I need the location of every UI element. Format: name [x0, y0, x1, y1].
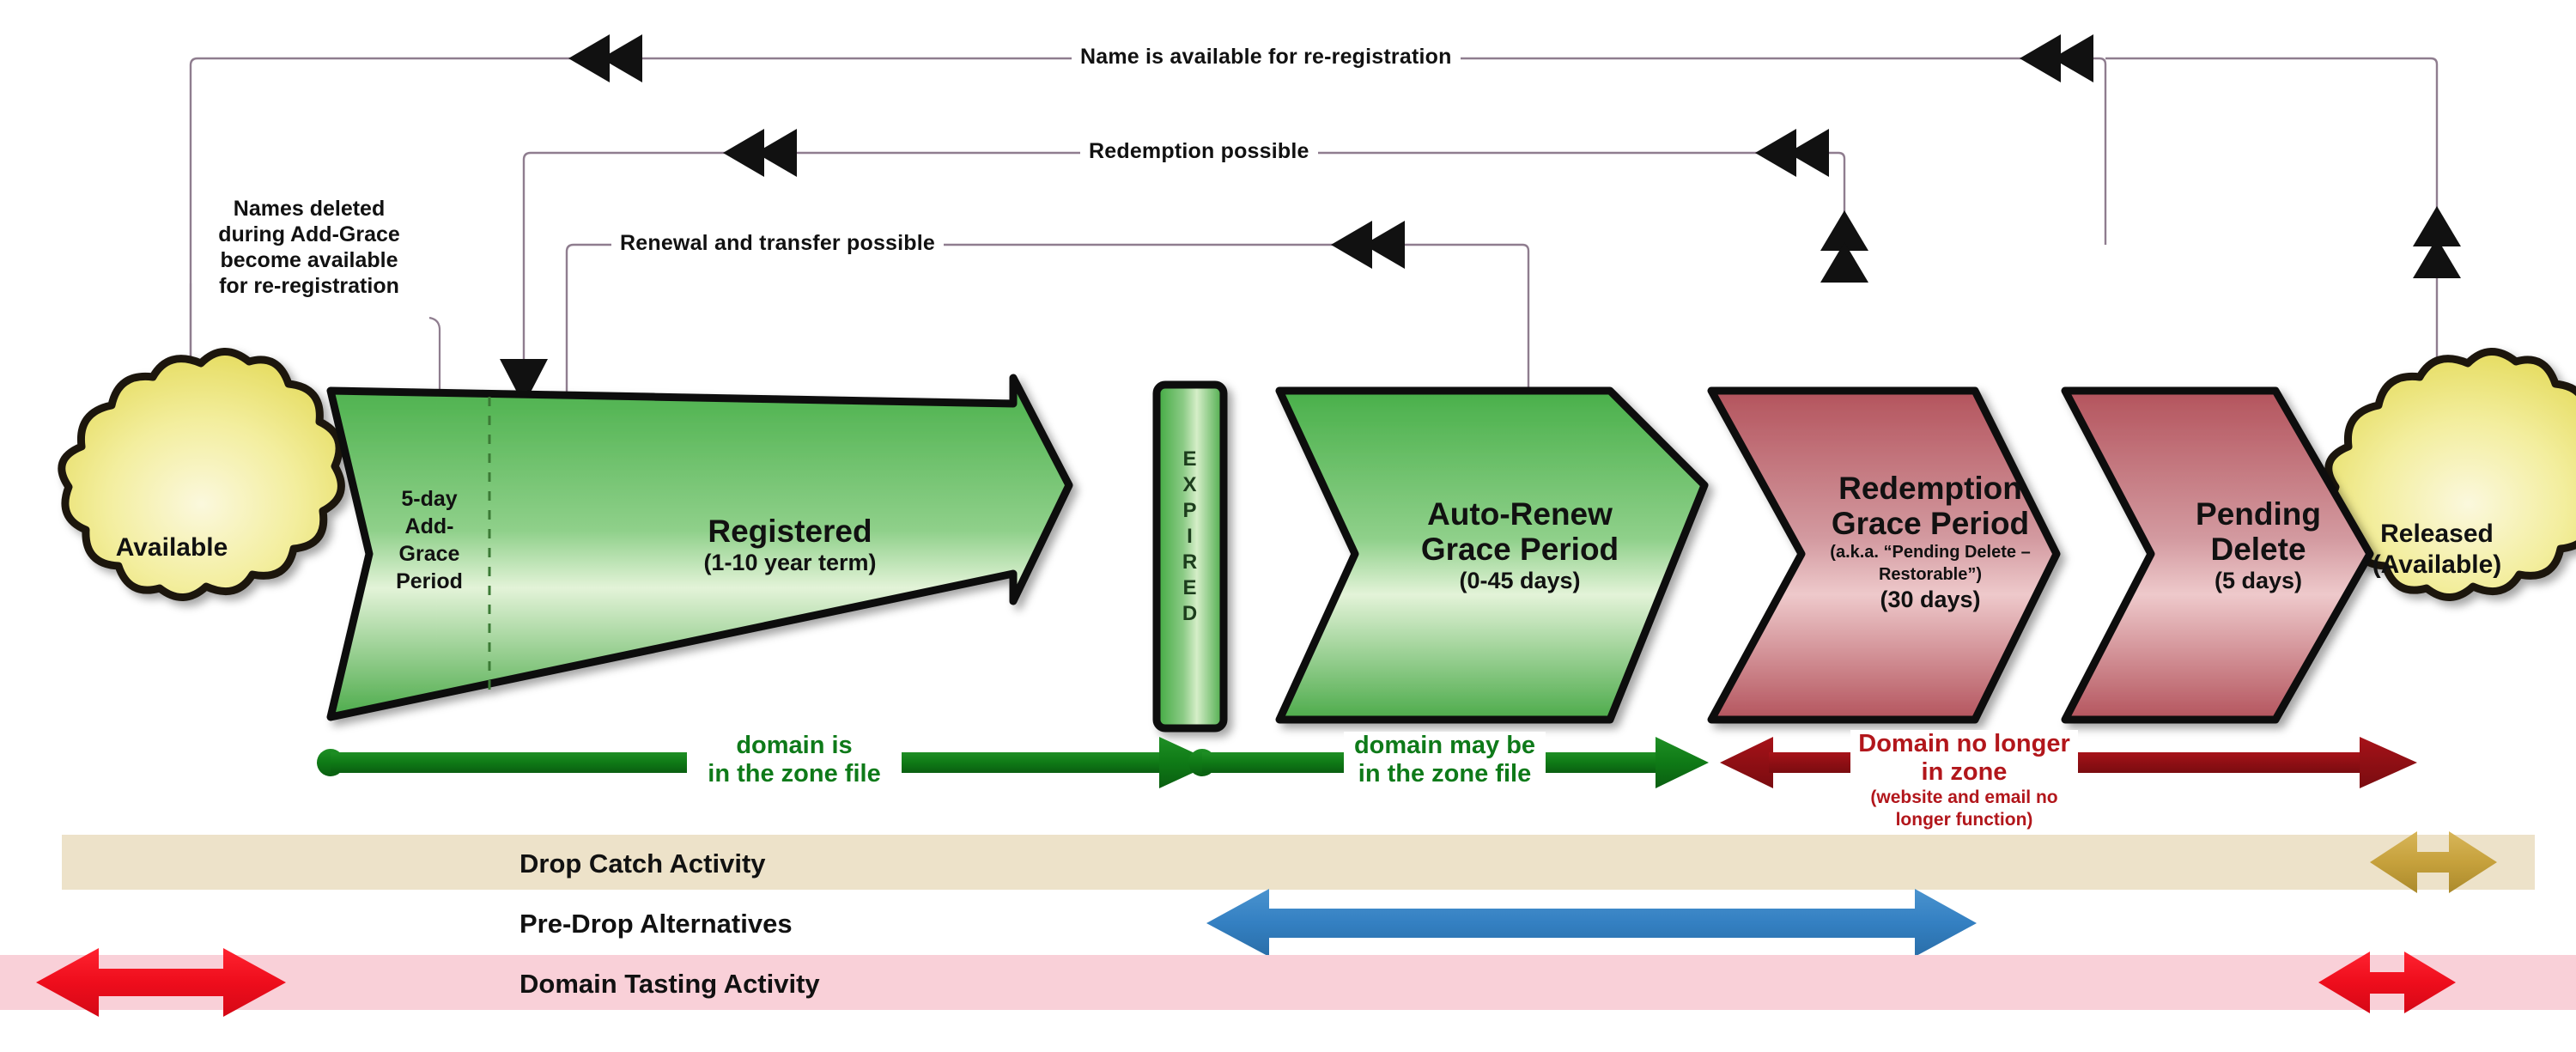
note-line-1: Names deleted: [172, 196, 447, 222]
expired-letter-6: E: [1159, 575, 1221, 601]
zone-may-line-2: in the zone file: [1344, 760, 1546, 788]
band-drop-catch-bg: [62, 835, 2535, 890]
band-label-domain-tasting: Domain Tasting Activity: [519, 969, 820, 1000]
expired-letter-5: R: [1159, 550, 1221, 575]
shape-auto-renew: [1279, 391, 1704, 720]
cloud-released-line-2: (Available): [2334, 550, 2540, 581]
stage-label-expired: E X P I R E D: [1159, 447, 1221, 627]
expired-letter-1: E: [1159, 447, 1221, 472]
shape-registered: [331, 378, 1069, 717]
cloud-available-label: Available: [69, 532, 275, 563]
band-label-drop-catch: Drop Catch Activity: [519, 848, 766, 879]
band-label-pre-drop: Pre-Drop Alternatives: [519, 909, 793, 940]
flow-label-name-available: Name is available for re-registration: [1072, 45, 1461, 70]
shape-pending-delete: [2065, 391, 2370, 720]
expired-letter-7: D: [1159, 601, 1221, 627]
zone-status-in-zone: domain is in the zone file: [687, 732, 902, 788]
zone-status-no-longer-in-zone: Domain no longer in zone (website and em…: [1850, 730, 2078, 831]
band-domain-tasting-bg: [0, 955, 2576, 1010]
note-line-4: for re-registration: [172, 273, 447, 299]
zone-out-line-2: (website and email no longer function): [1850, 787, 2078, 831]
cloud-available-line-1: Available: [69, 532, 275, 563]
add-grace-note: Names deleted during Add-Grace become av…: [172, 196, 447, 299]
expired-letter-2: X: [1159, 472, 1221, 498]
zone-status-may-be-in-zone: domain may be in the zone file: [1344, 732, 1546, 788]
zone-may-line-1: domain may be: [1344, 732, 1546, 760]
flow-label-renewal-transfer: Renewal and transfer possible: [611, 231, 944, 256]
band-pre-drop-arrow: [1206, 889, 1977, 957]
note-line-3: become available: [172, 247, 447, 273]
zone-out-line-1: Domain no longer in zone: [1850, 730, 2078, 787]
up-arrowheads: [1820, 206, 2461, 283]
expired-letter-3: P: [1159, 498, 1221, 524]
zone-in-line-1: domain is: [687, 732, 902, 760]
zone-in-line-2: in the zone file: [687, 760, 902, 788]
expired-letter-4: I: [1159, 524, 1221, 550]
cloud-released-line-1: Released: [2334, 519, 2540, 550]
shape-redemption: [1711, 391, 2057, 720]
flow-label-redemption-possible: Redemption possible: [1080, 139, 1318, 164]
note-line-2: during Add-Grace: [172, 222, 447, 247]
domain-lifecycle-diagram: Name is available for re-registration Re…: [0, 0, 2576, 1052]
cloud-released-label: Released (Available): [2334, 519, 2540, 581]
